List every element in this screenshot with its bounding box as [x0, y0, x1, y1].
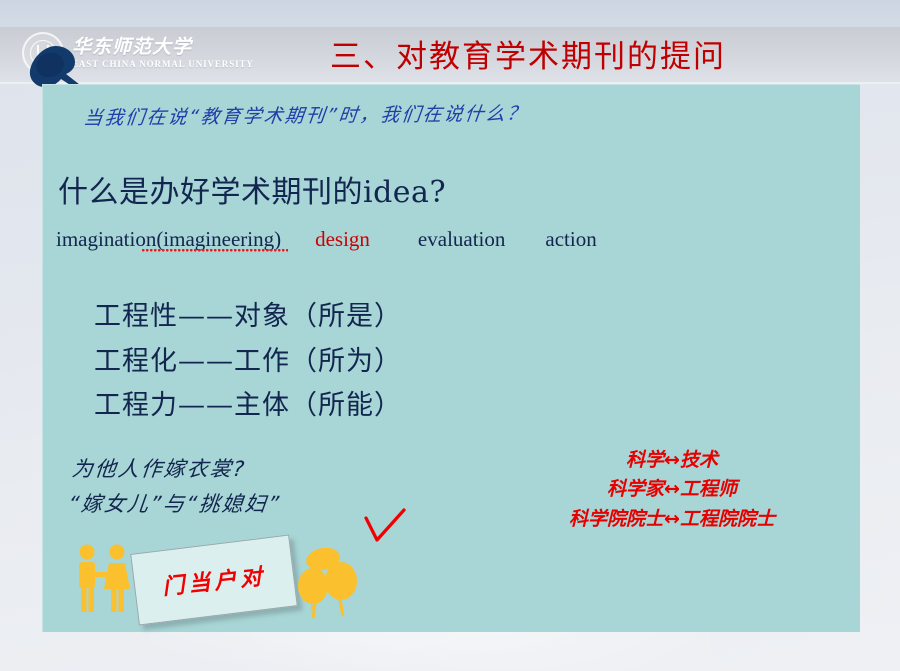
slide-canvas: 华东师范大学 EAST CHINA NORMAL UNIVERSITY 三、对教… [0, 0, 900, 671]
content-panel: 当我们在说“教育学术期刊”时，我们在说什么？ 什么是办好学术期刊的idea? i… [42, 84, 860, 632]
pair-line-2: 科学家↔工程师 [497, 475, 847, 504]
logo-text-block: 华东师范大学 EAST CHINA NORMAL UNIVERSITY [72, 38, 254, 69]
pairs-block: 科学↔技术 科学家↔工程师 科学院院士↔工程院院士 [497, 446, 847, 534]
keywords-row: imagination(imagineering) designevaluati… [56, 227, 846, 252]
pair-line-1: 科学↔技术 [497, 446, 847, 475]
logo-name-en: EAST CHINA NORMAL UNIVERSITY [72, 60, 254, 69]
keyword-imagination-text: imagination(imagineering) [56, 227, 281, 251]
engineering-line-3: 工程力——主体（所能） [94, 384, 402, 429]
top-band [0, 0, 900, 27]
logo-name-cn: 华东师范大学 [72, 38, 254, 57]
engineering-line-2: 工程化——工作（所为） [94, 340, 402, 385]
handwritten-left-line-2: “嫁女儿”与“挑媳妇” [66, 487, 282, 522]
engineering-lines: 工程性——对象（所是） 工程化——工作（所为） 工程力——主体（所能） [94, 295, 402, 429]
keyword-action: action [545, 227, 596, 252]
university-logo: 华东师范大学 EAST CHINA NORMAL UNIVERSITY [22, 30, 254, 76]
pair-line-3: 科学院院士↔工程院院士 [497, 505, 847, 534]
tilted-note-card: 门当户对 [130, 535, 298, 626]
keyword-evaluation: evaluation [418, 227, 505, 252]
handwritten-left-line-1: 为他人作嫁衣裳? [70, 452, 286, 487]
handwritten-left-block: 为他人作嫁衣裳? “嫁女儿”与“挑媳妇” [66, 452, 286, 521]
engineering-line-1: 工程性——对象（所是） [94, 295, 402, 340]
idea-heading: 什么是办好学术期刊的idea? [58, 167, 446, 211]
balloons-icon [295, 548, 365, 620]
red-check-icon [362, 508, 408, 546]
keyword-imagination: imagination(imagineering) [56, 227, 281, 252]
keyword-design: design [315, 227, 370, 252]
page-title: 三、对教育学术期刊的提问 [330, 27, 875, 79]
tilted-note-text: 门当户对 [161, 559, 268, 602]
ecnu-seal-icon [22, 32, 64, 74]
spellcheck-underline [142, 249, 288, 253]
handwritten-question: 当我们在说“教育学术期刊”时，我们在说什么？ [82, 99, 529, 131]
